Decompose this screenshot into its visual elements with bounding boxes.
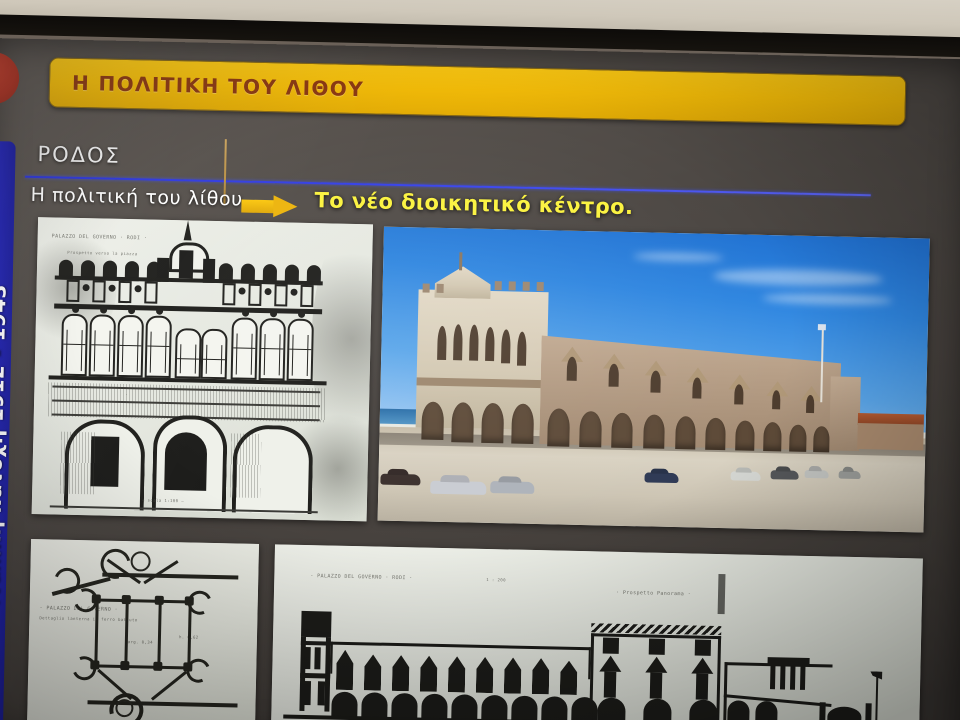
figure-lantern-detail: · PALAZZO DEL GOVERNO · Dettaglio lanter… xyxy=(27,539,259,720)
sidebar-vertical-tab: Ιταλική κατοχή 1912 - 1943 xyxy=(0,141,16,720)
subtitle-right: Το νέο διοικητικό κέντρο. xyxy=(314,188,633,219)
subtitle-left: Η πολιτική του λίθου xyxy=(30,184,243,211)
red-circle-icon xyxy=(0,52,20,105)
arrow-shaft xyxy=(241,200,275,214)
figure-palace-photograph xyxy=(378,227,930,533)
arrow-right-icon xyxy=(241,195,297,218)
figure-long-elevation: · PALAZZO DEL GOVERNO · RODI · · Prospet… xyxy=(271,544,923,720)
arrow-head xyxy=(273,195,297,218)
projected-slide-photograph: Ιταλική κατοχή 1912 - 1943 Η ΠΟΛΙΤΙΚΗ ΤΟ… xyxy=(0,0,960,720)
page-title: Η ΠΟΛΙΤΙΚΗ ΤΟΥ ΛΙΘΟΥ xyxy=(72,71,365,101)
figure-elevation-sketch: PALAZZO DEL GOVERNO · RODI · Prospetto v… xyxy=(32,217,373,521)
presentation-slide: Ιταλική κατοχή 1912 - 1943 Η ΠΟΛΙΤΙΚΗ ΤΟ… xyxy=(0,38,960,720)
slide-title-banner: Η ΠΟΛΙΤΙΚΗ ΤΟΥ ΛΙΘΟΥ xyxy=(49,57,907,126)
section-label: ΡΟΔΟΣ xyxy=(37,142,121,168)
sidebar-vertical-label: Ιταλική κατοχή 1912 - 1943 xyxy=(0,145,14,720)
